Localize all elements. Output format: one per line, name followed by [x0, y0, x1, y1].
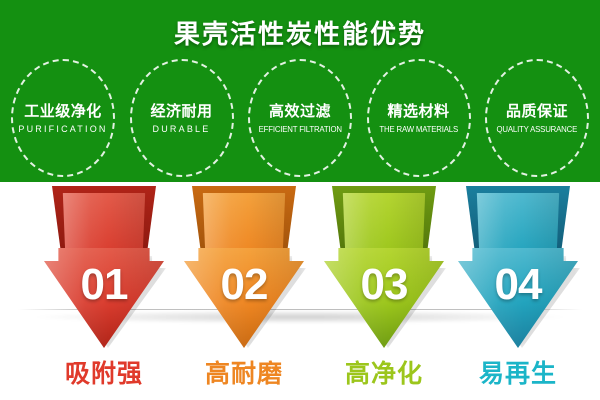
feature-label-cn-2: 经济耐用	[150, 103, 212, 121]
step-arrow-3: 03	[318, 186, 450, 352]
feature-oval-list: 工业级净化 PURIFICATION 经济耐用 DURABLE 高效过滤 EFF…	[0, 59, 600, 179]
ribbon-panel-2	[202, 193, 286, 256]
step-arrow-row: 01 02 03	[0, 182, 600, 352]
ribbon-panel-4	[476, 193, 560, 256]
step-number-4: 04	[452, 260, 584, 310]
step-caption-row: 吸附强 高耐磨 高净化 易再生	[0, 352, 600, 400]
poster-root: 果壳活性炭性能优势 工业级净化 PURIFICATION 经济耐用 DURABL…	[0, 0, 600, 400]
ribbon-gloss-1	[62, 193, 146, 256]
step-arrow-2: 02	[178, 186, 310, 352]
feature-oval-3: 高效过滤 EFFICIENT FILTRATION	[248, 59, 352, 177]
feature-label-cn-3: 高效过滤	[269, 103, 331, 121]
ribbon-gloss-3	[342, 193, 426, 256]
feature-oval-5: 品质保证 QUALITY ASSURANCE	[485, 59, 589, 177]
feature-label-cn-5: 品质保证	[506, 103, 568, 121]
feature-label-en-3: EFFICIENT FILTRATION	[258, 124, 341, 134]
step-arrow-1: 01	[38, 186, 170, 352]
feature-label-en-5: QUALITY ASSURANCE	[497, 124, 578, 134]
green-banner: 果壳活性炭性能优势 工业级净化 PURIFICATION 经济耐用 DURABL…	[0, 0, 600, 182]
feature-oval-4: 精选材料 THE RAW MATERIALS	[367, 59, 471, 177]
feature-label-en-4: THE RAW MATERIALS	[379, 124, 458, 134]
page-title: 果壳活性炭性能优势	[0, 14, 600, 51]
feature-label-cn-1: 工业级净化	[24, 103, 102, 121]
ribbon-gloss-4	[476, 193, 560, 256]
feature-oval-2: 经济耐用 DURABLE	[130, 59, 234, 177]
step-caption-4: 易再生	[452, 352, 584, 396]
ribbon-panel-3	[342, 193, 426, 256]
step-caption-3: 高净化	[318, 352, 450, 396]
ribbon-gloss-2	[202, 193, 286, 256]
step-number-3: 03	[318, 260, 450, 310]
step-caption-2: 高耐磨	[178, 352, 310, 396]
feature-oval-1: 工业级净化 PURIFICATION	[11, 59, 115, 177]
ribbon-panel-1	[62, 193, 146, 256]
feature-label-cn-4: 精选材料	[387, 103, 449, 121]
step-caption-1: 吸附强	[38, 352, 170, 396]
step-arrow-4: 04	[452, 186, 584, 352]
step-number-2: 02	[178, 260, 310, 310]
feature-label-en-1: PURIFICATION	[18, 124, 107, 134]
feature-label-en-2: DURABLE	[153, 124, 211, 134]
step-number-1: 01	[38, 260, 170, 310]
